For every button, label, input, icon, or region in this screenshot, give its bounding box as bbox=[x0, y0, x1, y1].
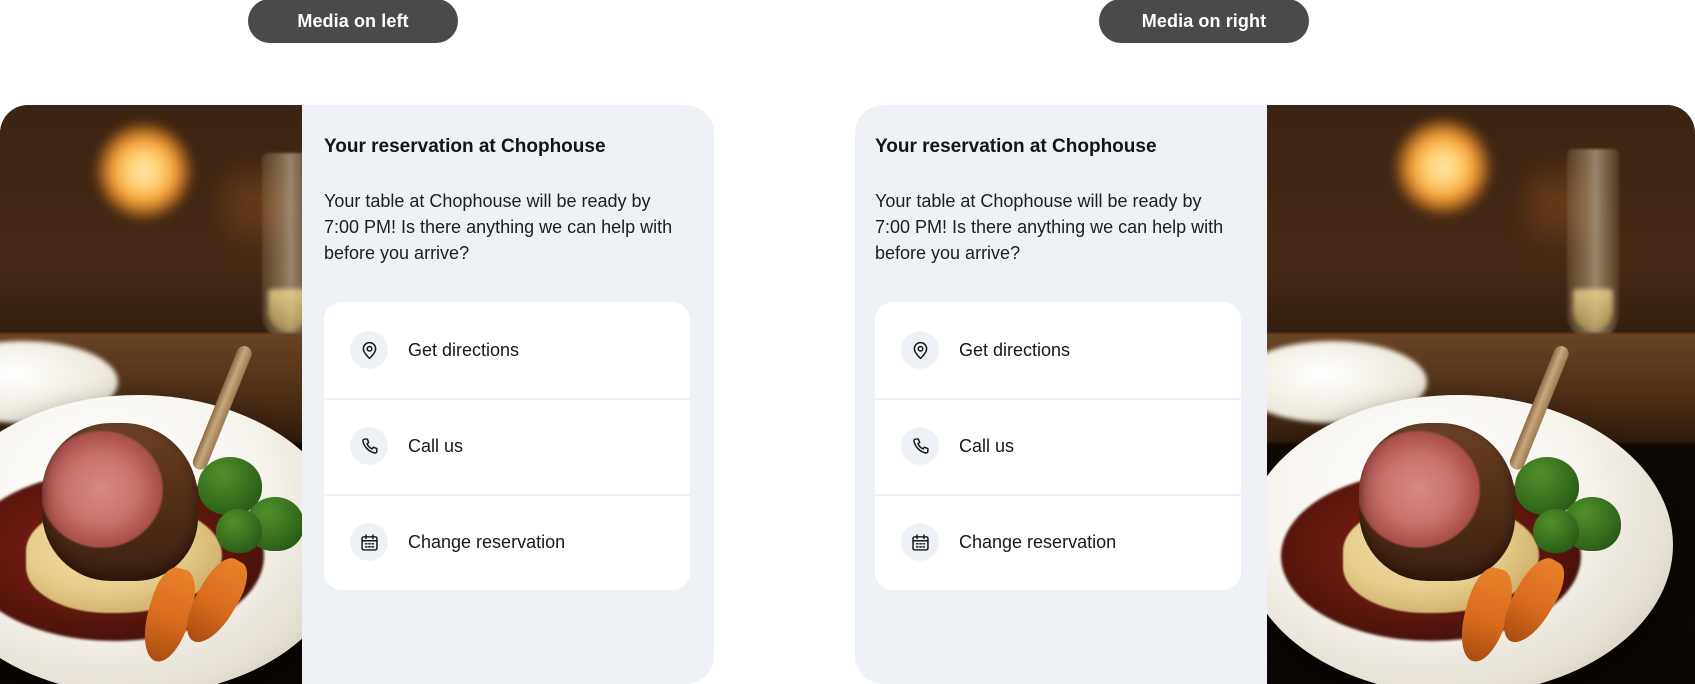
action-label: Call us bbox=[408, 437, 463, 455]
action-label: Get directions bbox=[959, 341, 1070, 359]
photo-bokeh-light bbox=[96, 123, 192, 219]
card-media-image bbox=[0, 105, 302, 684]
badge-media-on-left-label: Media on left bbox=[297, 11, 408, 32]
card-body-text: Your table at Chophouse will be ready by… bbox=[875, 188, 1241, 267]
action-label: Get directions bbox=[408, 341, 519, 359]
card-media-image bbox=[1267, 105, 1695, 684]
photo-bokeh-light bbox=[1395, 119, 1491, 215]
action-call-us[interactable]: Call us bbox=[875, 398, 1241, 494]
photo-wine-glass bbox=[262, 153, 302, 339]
photo-wine-glass bbox=[1567, 149, 1619, 339]
reservation-card-media-left: Your reservation at Chophouse Your table… bbox=[0, 105, 714, 684]
map-pin-icon bbox=[901, 331, 939, 369]
photo-broccoli bbox=[1533, 509, 1579, 553]
badge-media-on-right-label: Media on right bbox=[1142, 11, 1266, 32]
action-get-directions[interactable]: Get directions bbox=[875, 302, 1241, 398]
card-title: Your reservation at Chophouse bbox=[324, 135, 690, 160]
card-title: Your reservation at Chophouse bbox=[875, 135, 1241, 160]
restaurant-food-photo bbox=[0, 105, 302, 684]
card-text-panel: Your reservation at Chophouse Your table… bbox=[855, 105, 1267, 684]
phone-icon bbox=[901, 427, 939, 465]
reservation-card-media-right: Your reservation at Chophouse Your table… bbox=[855, 105, 1695, 684]
calendar-icon bbox=[350, 523, 388, 561]
action-label: Change reservation bbox=[959, 533, 1116, 551]
action-call-us[interactable]: Call us bbox=[324, 398, 690, 494]
card-text-panel: Your reservation at Chophouse Your table… bbox=[302, 105, 714, 684]
phone-icon bbox=[350, 427, 388, 465]
card-actions-list: Get directions Call us bbox=[324, 302, 690, 590]
map-pin-icon bbox=[350, 331, 388, 369]
card-body-text: Your table at Chophouse will be ready by… bbox=[324, 188, 690, 267]
card-actions-list: Get directions Call us bbox=[875, 302, 1241, 590]
badge-media-on-left: Media on left bbox=[248, 0, 458, 43]
action-change-reservation[interactable]: Change reservation bbox=[324, 494, 690, 590]
photo-lamb-chop bbox=[1359, 423, 1515, 581]
photo-broccoli bbox=[216, 509, 262, 553]
photo-lamb-chop bbox=[42, 423, 198, 581]
action-label: Change reservation bbox=[408, 533, 565, 551]
calendar-icon bbox=[901, 523, 939, 561]
action-label: Call us bbox=[959, 437, 1014, 455]
action-get-directions[interactable]: Get directions bbox=[324, 302, 690, 398]
comparison-stage: Media on left Media on right bbox=[0, 0, 1695, 684]
badge-media-on-right: Media on right bbox=[1099, 0, 1309, 43]
action-change-reservation[interactable]: Change reservation bbox=[875, 494, 1241, 590]
restaurant-food-photo bbox=[1267, 105, 1695, 684]
